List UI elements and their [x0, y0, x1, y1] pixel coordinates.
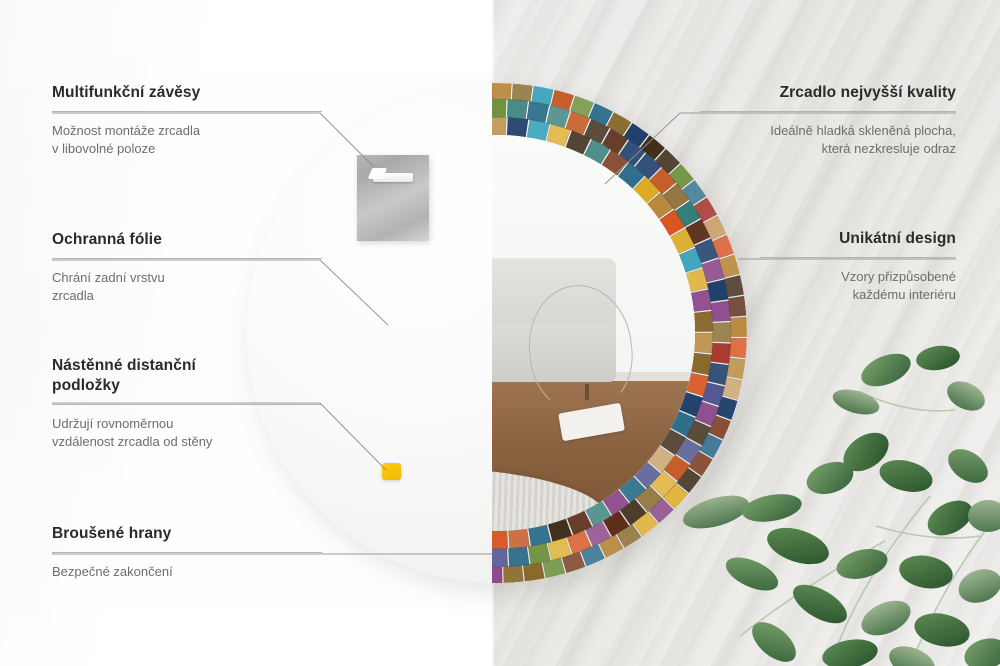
hanger-plate [357, 155, 429, 241]
mosaic-tile [728, 296, 747, 317]
callout-description-line: Bezpečné zakončení [52, 563, 322, 581]
callout-title: Broušené hrany [52, 524, 322, 544]
callout-rule [760, 257, 956, 258]
mosaic-tile [512, 83, 533, 101]
callout-rule [52, 111, 322, 112]
callout-title-line: Nástěnné distanční [52, 356, 322, 376]
mosaic-tile [508, 529, 529, 549]
callout-rule [52, 258, 322, 259]
mosaic-tile [725, 275, 745, 297]
hanger-hook-icon [373, 173, 413, 182]
callout-description-line: zrcadla [52, 287, 322, 305]
mosaic-tile [730, 338, 747, 358]
mosaic-tile [507, 99, 528, 119]
callout-description-line: Ideálně hladká skleněná plocha, [700, 122, 956, 140]
callout-title-line: podložky [52, 376, 322, 396]
callout-description: Vzory přizpůsobené každému interiéru [760, 268, 956, 305]
callout-description: Ideálně hladká skleněná plocha, která ne… [700, 122, 956, 159]
callout-description-line: Chrání zadní vrstvu [52, 269, 322, 287]
callout-protective-foil: Ochranná fólie Chrání zadní vrstvu zrcad… [52, 230, 322, 306]
callout-title: Ochranná fólie [52, 230, 322, 250]
callout-description-line: v libovolné poloze [52, 140, 322, 158]
callout-description: Udržují rovnoměrnou vzdálenost zrcadla o… [52, 415, 322, 452]
callout-rule [700, 111, 956, 112]
callout-unique-design: Unikátní design Vzory přizpůsobené každé… [760, 229, 956, 305]
callout-multifunctional-hangers: Multifunkční závěsy Možnost montáže zrca… [52, 83, 322, 159]
callout-description-line: Možnost montáže zrcadla [52, 122, 322, 140]
mosaic-tile [503, 566, 523, 583]
mosaic-tile [727, 358, 747, 379]
callout-description-line: Udržují rovnoměrnou [52, 415, 322, 433]
mosaic-tile [492, 83, 512, 99]
mosaic-tile [723, 377, 744, 400]
mosaic-tile [523, 563, 545, 583]
callout-title: Unikátní design [760, 229, 956, 249]
callout-title: Nástěnné distanční podložky [52, 356, 322, 396]
callout-description: Možnost montáže zrcadla v libovolné polo… [52, 122, 322, 159]
callout-description-line: která nezkresluje odraz [700, 140, 956, 158]
callout-title: Multifunkční závěsy [52, 83, 322, 103]
mosaic-tile [711, 343, 731, 364]
callout-description-line: vzdálenost zrcadla od stěny [52, 433, 322, 451]
round-mirror [247, 83, 747, 583]
mosaic-tile [694, 333, 713, 353]
mosaic-tile [694, 311, 713, 332]
mosaic-tile [532, 85, 554, 105]
spacer-pad [382, 463, 401, 480]
callout-rule [52, 552, 322, 553]
callout-top-quality-mirror: Zrcadlo nejvyšší kvality Ideálně hladká … [700, 83, 956, 159]
mosaic-tile [711, 301, 731, 322]
callout-description: Bezpečné zakončení [52, 563, 322, 581]
mosaic-tile [731, 317, 748, 337]
mosaic-tile [713, 322, 731, 342]
callout-rule [52, 404, 322, 405]
callout-title: Zrcadlo nejvyšší kvality [700, 83, 956, 103]
callout-description-line: Vzory přizpůsobené [760, 268, 956, 286]
mosaic-tile [508, 547, 529, 567]
callout-description: Chrání zadní vrstvu zrcadla [52, 269, 322, 306]
callout-wall-spacers: Nástěnné distanční podložky Udržují rovn… [52, 356, 322, 452]
infographic-stage: Multifunkční závěsy Možnost montáže zrca… [0, 0, 1000, 666]
callout-description-line: každému interiéru [760, 286, 956, 304]
callout-polished-edges: Broušené hrany Bezpečné zakončení [52, 524, 322, 581]
